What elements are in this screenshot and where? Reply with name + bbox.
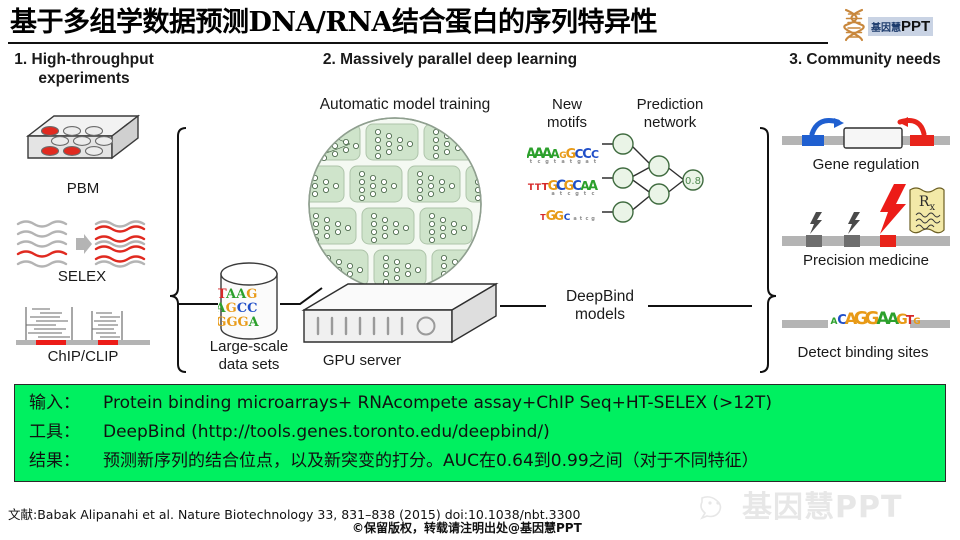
binding-motif-icon: A C A G G A A G T G xyxy=(782,300,950,334)
title-divider xyxy=(8,42,828,44)
brand-logo-label: 基因慧PPT xyxy=(868,17,933,36)
brand-logo-cn: 基因慧 xyxy=(871,23,901,34)
slide-root: 基于多组学数据预测DNA/RNA结合蛋白的序列特异性 基因慧PPT 1. Hig… xyxy=(0,0,960,540)
wechat-icon xyxy=(700,494,734,522)
caption-pbm: PBM xyxy=(24,180,142,198)
caption-deepbind-models: DeepBind models xyxy=(552,288,648,324)
caption-precision-medicine: Precision medicine xyxy=(772,252,960,270)
caption-prediction-network: Prediction network xyxy=(614,96,726,132)
svg-text:CTAAG: CTAAG xyxy=(218,287,257,302)
read-pileup-icon xyxy=(16,303,150,347)
summary-row-input-key: 输入： xyxy=(29,389,103,417)
section-1-heading: 1. High-throughput experiments xyxy=(4,50,164,88)
network-output-value: 0.8 xyxy=(685,176,701,187)
lightning-prescription-icon: Rx xyxy=(782,182,950,250)
gene-regulation-icon xyxy=(782,108,950,156)
svg-text:T: T xyxy=(528,183,535,193)
caption-detect-binding-sites: Detect binding sites xyxy=(766,344,960,362)
caption-deepbind-models-line1: DeepBind xyxy=(552,288,648,306)
svg-text:a: a xyxy=(573,216,576,222)
svg-text:C: C xyxy=(564,213,571,223)
svg-text:c: c xyxy=(538,159,541,165)
svg-text:a: a xyxy=(585,159,588,165)
summary-row-result-value: 预测新序列的结合位点，以及新突变的打分。AUC在0.64到0.99之间（对于不同… xyxy=(103,451,759,471)
brand-logo-en: PPT xyxy=(901,18,930,35)
gpu-server-icon xyxy=(300,280,500,350)
microarray-plate-icon xyxy=(24,110,142,176)
caption-dataset: Large-scale data sets xyxy=(196,338,302,374)
watermark: 基因慧PPT xyxy=(700,486,950,530)
dataset-cylinder-icon: CTAAG TAGCC AGGGA xyxy=(218,262,280,340)
svg-text:TAGCC: TAGCC xyxy=(218,301,257,316)
svg-text:a: a xyxy=(561,159,564,165)
svg-text:c: c xyxy=(568,191,571,197)
section-2-heading: 2. Massively parallel deep learning xyxy=(280,50,620,69)
caption-selex: SELEX xyxy=(16,268,148,286)
page-title: 基于多组学数据预测DNA/RNA结合蛋白的序列特异性 xyxy=(10,6,810,40)
svg-text:g: g xyxy=(575,191,579,197)
caption-new-motifs-line1: New xyxy=(522,96,612,114)
caption-prediction-network-line1: Prediction xyxy=(614,96,726,114)
caption-new-motifs: New motifs xyxy=(522,96,612,132)
summary-row-input: 输入：Protein binding microarrays+ RNAcompe… xyxy=(29,389,772,417)
sequence-logo-icons: A A A A G G C C C tcg tat gat T T T xyxy=(527,136,603,224)
summary-row-tool-value: DeepBind (http://tools.genes.toronto.edu… xyxy=(103,422,550,442)
section-1-heading-line2: experiments xyxy=(4,69,164,88)
summary-row-tool-key: 工具： xyxy=(29,418,103,446)
summary-row-result: 结果：预测新序列的结合位点，以及新突变的打分。AUC在0.64到0.99之间（对… xyxy=(29,447,759,475)
caption-dataset-line1: Large-scale xyxy=(196,338,302,356)
section-1-heading-line1: 1. High-throughput xyxy=(4,50,164,69)
svg-text:c: c xyxy=(586,216,589,222)
brand-logo: 基因慧PPT xyxy=(840,8,950,42)
caption-gene-regulation: Gene regulation xyxy=(772,156,960,174)
summary-box: 输入：Protein binding microarrays+ RNAcompe… xyxy=(14,384,946,482)
summary-row-result-key: 结果： xyxy=(29,447,103,475)
svg-text:g: g xyxy=(577,159,581,165)
summary-row-tool: 工具：DeepBind (http://tools.genes.toronto.… xyxy=(29,418,550,446)
sequence-waves-icon xyxy=(16,218,148,270)
svg-text:g: g xyxy=(591,216,595,222)
watermark-text: 基因慧PPT xyxy=(742,486,902,530)
svg-text:c: c xyxy=(592,191,595,197)
caption-chipclip: ChIP/CLIP xyxy=(10,348,156,366)
caption-dataset-line2: data sets xyxy=(196,356,302,374)
copyright-text: ©保留版权，转载请注明出处@基因慧PPT xyxy=(352,519,582,536)
caption-gpu-server: GPU server xyxy=(302,352,422,370)
svg-text:t: t xyxy=(580,216,583,222)
section-3-heading: 3. Community needs xyxy=(770,50,960,69)
svg-text:G: G xyxy=(554,209,564,223)
caption-new-motifs-line2: motifs xyxy=(522,114,612,132)
svg-text:a: a xyxy=(551,191,554,197)
caption-automatic-model-training: Automatic model training xyxy=(290,96,520,114)
prediction-network-diagram: 0.8 xyxy=(600,128,710,228)
caption-deepbind-models-line2: models xyxy=(552,306,648,324)
svg-text:AGGGA: AGGGA xyxy=(218,315,260,330)
svg-text:G: G xyxy=(913,317,920,327)
svg-text:g: g xyxy=(545,159,549,165)
dna-helix-icon xyxy=(840,8,868,42)
summary-row-input-value: Protein binding microarrays+ RNAcompete … xyxy=(103,393,772,413)
